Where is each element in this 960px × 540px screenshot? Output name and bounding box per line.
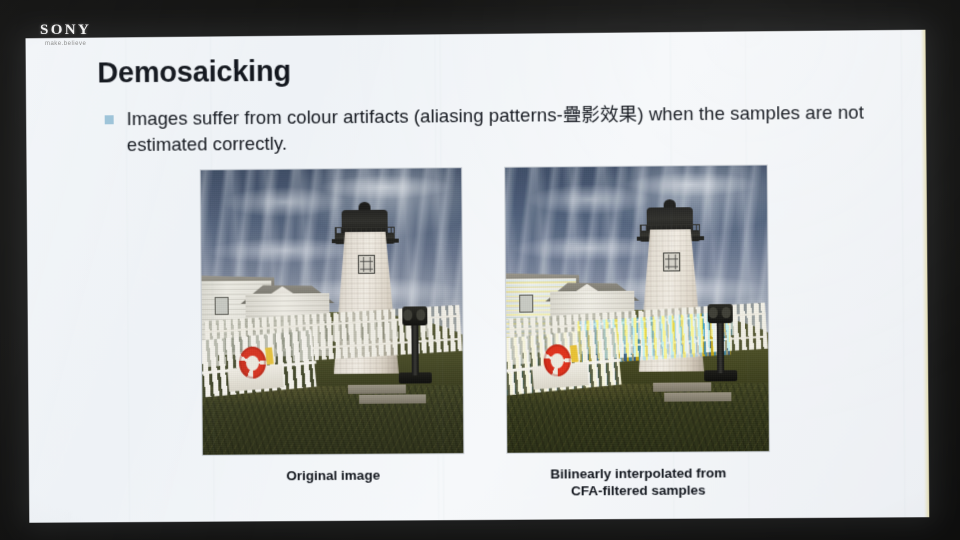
caption-line-1: Bilinearly interpolated from: [495, 464, 781, 483]
viewer-lens-icon: [709, 307, 717, 319]
lighthouse-scene: [201, 168, 464, 455]
house-window: [519, 294, 533, 313]
viewer-post: [411, 321, 418, 375]
walkway-slab: [359, 394, 427, 404]
house-window: [215, 297, 229, 316]
photo-original: [201, 168, 464, 455]
sony-wordmark: SONY: [40, 23, 91, 38]
viewer-post: [717, 319, 724, 373]
sony-tagline: make.believe: [40, 41, 91, 47]
bullet-text-cjk: 疊影效果: [563, 105, 638, 127]
tower-window: [358, 254, 375, 274]
caption-line-1: Original image: [203, 466, 464, 485]
walkway-slab: [653, 382, 711, 392]
viewer-lens-icon: [404, 309, 412, 321]
sony-logo: SONY make.believe: [40, 23, 91, 47]
walkway-slab: [664, 392, 732, 402]
caption-line-2: CFA-filtered samples: [496, 481, 782, 500]
viewer-lens-icon: [417, 309, 425, 321]
figure-caption-bilinear: Bilinearly interpolated from CFA-filtere…: [495, 464, 781, 500]
figure-caption-original: Original image: [203, 466, 464, 485]
slide-title: Demosaicking: [97, 56, 291, 91]
lighthouse-scene-artifacted: [505, 165, 769, 452]
tower-window: [663, 252, 680, 272]
projected-slide: Demosaicking Images suffer from colour a…: [26, 30, 930, 523]
bullet-text: Images suffer from colour artifacts (ali…: [126, 99, 895, 157]
bullet-item: Images suffer from colour artifacts (ali…: [105, 99, 896, 157]
slide-surface: Demosaicking Images suffer from colour a…: [26, 30, 930, 523]
figure-bilinear-image: Bilinearly interpolated from CFA-filtere…: [505, 165, 781, 499]
bullet-text-before: Images suffer from colour artifacts (ali…: [127, 104, 563, 129]
viewer-lens-icon: [722, 307, 730, 319]
bullet-marker-icon: [105, 115, 114, 124]
figure-original-image: Original image: [201, 168, 464, 485]
walkway-slab: [348, 385, 405, 395]
photo-bilinear: [505, 165, 769, 452]
projection-room: SONY make.believe Demosaicking Images su…: [0, 0, 960, 540]
